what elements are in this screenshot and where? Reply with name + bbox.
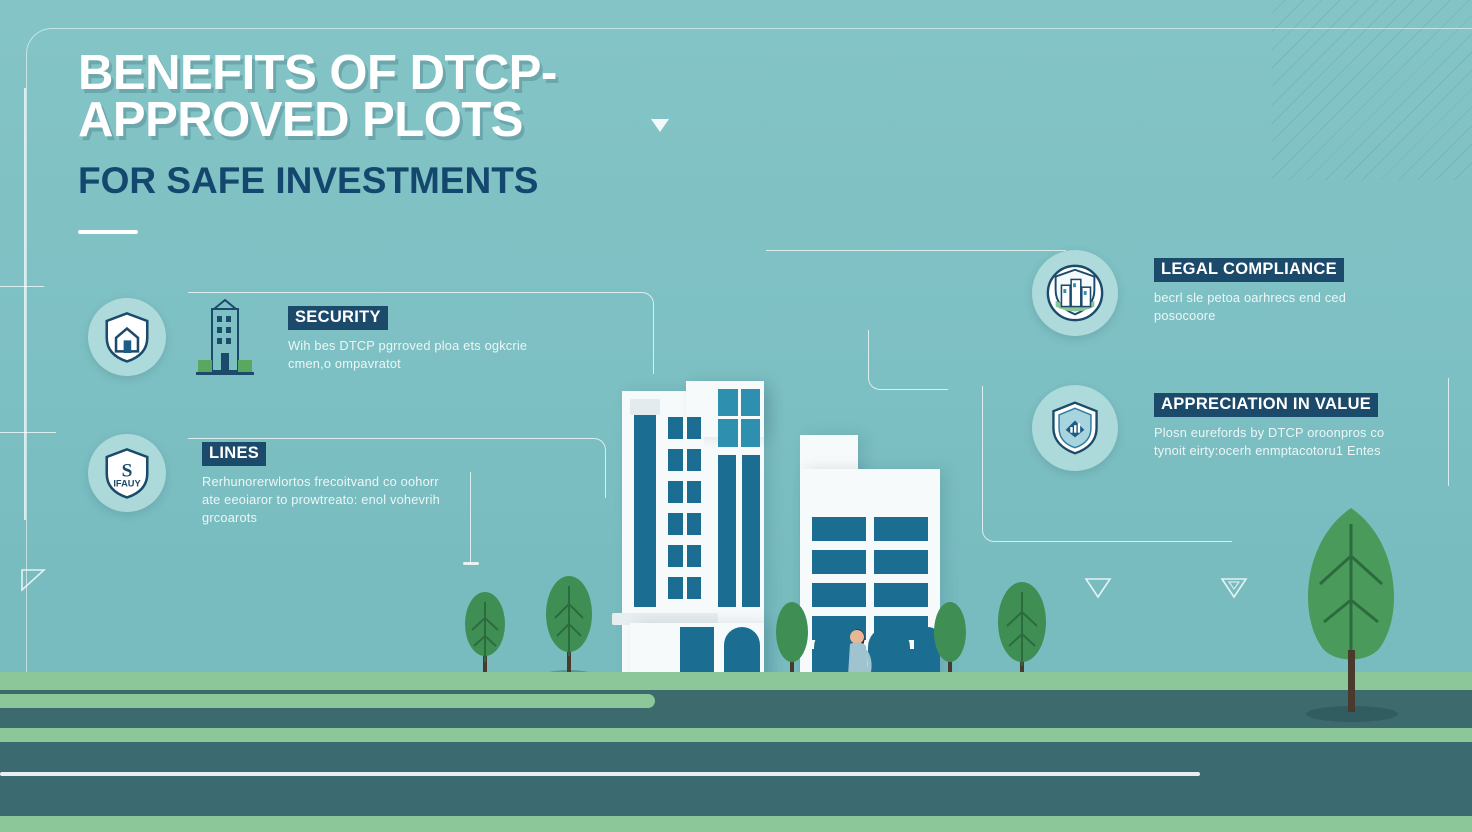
- triangle-marker-top: [651, 119, 669, 132]
- street-pole: [1348, 650, 1355, 712]
- title-underline-rule: [78, 230, 138, 234]
- page-title: BENEFITS OF DTCP- APPROVED PLOTS FOR SAF…: [78, 50, 798, 234]
- triangle-outline-left: [20, 568, 46, 592]
- callout-heading: LEGAL COMPLIANCE: [1154, 258, 1344, 282]
- road-center-line: [0, 772, 1200, 776]
- diagonal-hatch-pattern: [1272, 0, 1472, 180]
- connector-legal-upper: [766, 250, 1066, 251]
- building-left-twin-1: [718, 455, 736, 607]
- building-left-cap: [630, 399, 660, 415]
- callout-lines[interactable]: S IFAUY LINES Rerhunorerwlortos frecoitv…: [88, 434, 528, 527]
- tree-1: [458, 592, 512, 682]
- title-line-1: BENEFITS OF DTCP-: [78, 50, 798, 97]
- callout-heading: LINES: [202, 442, 266, 466]
- page-subtitle: FOR SAFE INVESTMENTS: [78, 160, 798, 202]
- shield-dollar-icon: S IFAUY: [88, 434, 166, 512]
- connector-legal-left-stub: [0, 286, 44, 287]
- triangle-outline-mid: [1084, 577, 1112, 599]
- left-accent-line: [24, 88, 26, 520]
- grass-band-bottom: [0, 816, 1472, 832]
- building-left-twin-2: [742, 455, 760, 607]
- road-band-lower: [0, 742, 1472, 816]
- svg-text:IFAUY: IFAUY: [113, 479, 141, 489]
- window-grid-left-cols: [668, 417, 704, 607]
- tree-3: [770, 602, 814, 682]
- callout-body: Plosn eurefords by DTCP oroonpros co tyn…: [1154, 424, 1404, 460]
- callout-appreciation-in-value[interactable]: APPRECIATION IN VALUE Plosn eurefords by…: [1032, 385, 1452, 471]
- shield-house-icon: [88, 298, 166, 376]
- callout-heading: APPRECIATION IN VALUE: [1154, 393, 1378, 417]
- callout-body: becrl sle petoa oarhrecs end ced posocoo…: [1154, 289, 1404, 325]
- tree-4: [928, 602, 972, 682]
- grass-band-top: [0, 672, 1472, 690]
- ground-bands: [0, 672, 1472, 832]
- callout-body: Wih bes DTCP pgrroved ploa ets ogkcrie c…: [288, 337, 538, 373]
- connector-lines-endcap: [463, 562, 479, 565]
- title-line-2: APPROVED PLOTS: [78, 97, 798, 144]
- infographic-canvas: BENEFITS OF DTCP- APPROVED PLOTS FOR SAF…: [0, 0, 1472, 832]
- triangle-outline-right: [1220, 577, 1248, 599]
- grass-band-middle: [0, 728, 1472, 742]
- callout-security[interactable]: SECURITY Wih bes DTCP pgrroved ploa ets …: [88, 298, 568, 376]
- road-median-strip: [0, 694, 655, 708]
- callout-body: Rerhunorerwlortos frecoitvand co oohorr …: [202, 473, 452, 527]
- city-badge-icon: [1032, 250, 1118, 336]
- shield-chart-icon: [1032, 385, 1118, 471]
- building-left-strip: [634, 411, 656, 607]
- callout-legal-compliance[interactable]: LEGAL COMPLIANCE becrl sle petoa oarhrec…: [1032, 250, 1452, 336]
- tree-2: [538, 576, 600, 682]
- callout-heading: SECURITY: [288, 306, 388, 330]
- connector-appreciation-left-stub: [0, 432, 56, 433]
